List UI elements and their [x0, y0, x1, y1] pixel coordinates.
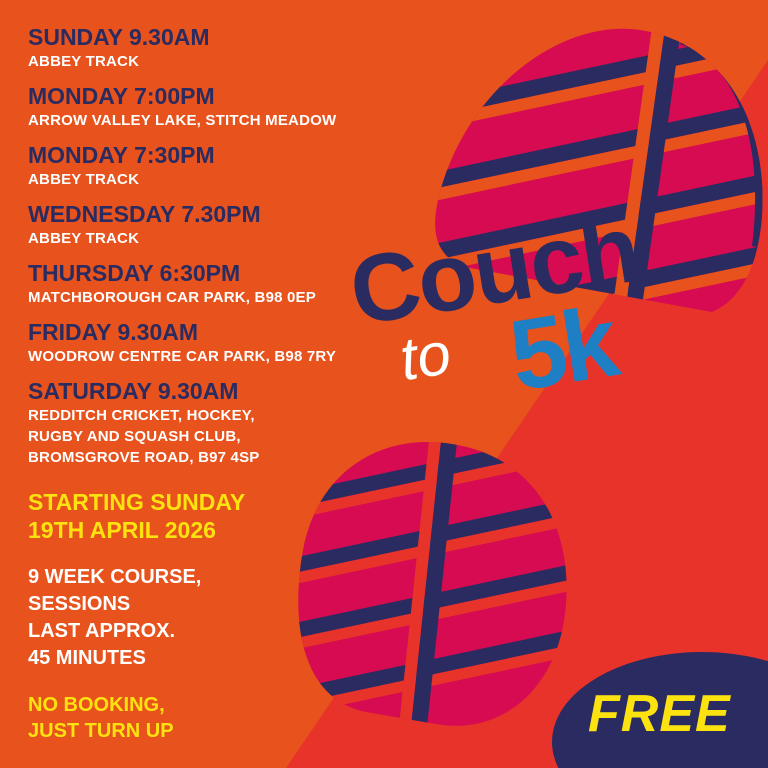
- session-time: FRIDAY 9.30AM: [28, 319, 408, 346]
- course-info-block: 9 WEEK COURSE, SESSIONS LAST APPROX. 45 …: [28, 564, 408, 672]
- session-time: MONDAY 7:30PM: [28, 142, 408, 169]
- start-date-line: 19TH APRIL 2026: [28, 516, 408, 544]
- start-date-line: STARTING SUNDAY: [28, 488, 408, 516]
- session-place: REDDITCH CRICKET, HOCKEY, RUGBY AND SQUA…: [28, 405, 408, 468]
- session-place-line: RUGBY AND SQUASH CLUB,: [28, 426, 408, 447]
- session-place-line: WOODROW CENTRE CAR PARK, B98 7RY: [28, 346, 408, 367]
- session-place-line: REDDITCH CRICKET, HOCKEY,: [28, 405, 408, 426]
- session-place-line: ABBEY TRACK: [28, 169, 408, 190]
- session-place: ARROW VALLEY LAKE, STITCH MEADOW: [28, 110, 408, 131]
- session-item: MONDAY 7:30PM ABBEY TRACK: [28, 142, 408, 190]
- booking-info-line: JUST TURN UP: [28, 718, 408, 744]
- booking-info-line: NO BOOKING,: [28, 692, 408, 718]
- session-place: ABBEY TRACK: [28, 169, 408, 190]
- session-place-line: ABBEY TRACK: [28, 228, 408, 249]
- session-item: THURSDAY 6:30PM MATCHBOROUGH CAR PARK, B…: [28, 260, 408, 308]
- session-place: MATCHBOROUGH CAR PARK, B98 0EP: [28, 287, 408, 308]
- free-badge-label: FREE: [588, 688, 731, 740]
- session-list: SUNDAY 9.30AM ABBEY TRACK MONDAY 7:00PM …: [28, 24, 408, 744]
- course-info-line: SESSIONS: [28, 591, 408, 618]
- session-item: FRIDAY 9.30AM WOODROW CENTRE CAR PARK, B…: [28, 319, 408, 367]
- session-item: SATURDAY 9.30AM REDDITCH CRICKET, HOCKEY…: [28, 378, 408, 468]
- course-info-line: LAST APPROX.: [28, 618, 408, 645]
- session-time: SATURDAY 9.30AM: [28, 378, 408, 405]
- session-item: MONDAY 7:00PM ARROW VALLEY LAKE, STITCH …: [28, 83, 408, 131]
- course-info-line: 9 WEEK COURSE,: [28, 564, 408, 591]
- session-place-line: ARROW VALLEY LAKE, STITCH MEADOW: [28, 110, 408, 131]
- session-time: WEDNESDAY 7.30PM: [28, 201, 408, 228]
- session-place-line: ABBEY TRACK: [28, 51, 408, 72]
- session-time: THURSDAY 6:30PM: [28, 260, 408, 287]
- logo-word-5k: 5k: [504, 292, 622, 407]
- session-time: SUNDAY 9.30AM: [28, 24, 408, 51]
- session-place-line: MATCHBOROUGH CAR PARK, B98 0EP: [28, 287, 408, 308]
- session-place: WOODROW CENTRE CAR PARK, B98 7RY: [28, 346, 408, 367]
- booking-info-block: NO BOOKING, JUST TURN UP: [28, 692, 408, 744]
- session-place-line: BROMSGROVE ROAD, B97 4SP: [28, 447, 408, 468]
- session-place: ABBEY TRACK: [28, 228, 408, 249]
- poster-canvas: Couch to 5k FREE SUNDAY 9.30AM ABBEY TRA…: [0, 0, 768, 768]
- session-item: WEDNESDAY 7.30PM ABBEY TRACK: [28, 201, 408, 249]
- start-date-block: STARTING SUNDAY 19TH APRIL 2026: [28, 488, 408, 544]
- session-place: ABBEY TRACK: [28, 51, 408, 72]
- session-time: MONDAY 7:00PM: [28, 83, 408, 110]
- session-item: SUNDAY 9.30AM ABBEY TRACK: [28, 24, 408, 72]
- course-info-line: 45 MINUTES: [28, 645, 408, 672]
